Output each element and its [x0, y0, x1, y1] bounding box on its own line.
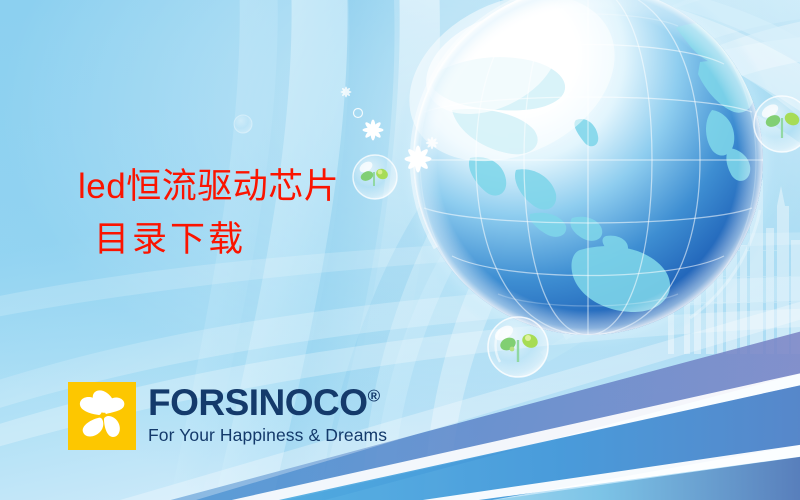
- logo-wordmark: FORSINOCO®: [148, 384, 387, 421]
- bubble-with-sprout: [488, 317, 548, 377]
- banner-canvas: led恒流驱动芯片 目录下载 FORSINOCO® For Your Happi…: [0, 0, 800, 500]
- logo-text-block: FORSINOCO® For Your Happiness & Dreams: [148, 384, 387, 445]
- bubble-small: [234, 115, 252, 133]
- bubble-with-sprout: [754, 96, 800, 152]
- bubble-with-sprout: [353, 155, 397, 199]
- company-logo: FORSINOCO® For Your Happiness & Dreams: [68, 382, 387, 450]
- logo-tagline: For Your Happiness & Dreams: [148, 427, 387, 445]
- sparkle-icon: [341, 87, 352, 98]
- four-petal-pinwheel-icon: [68, 382, 136, 450]
- sparkle-icon: [363, 120, 384, 141]
- registered-trademark-icon: ®: [368, 387, 381, 406]
- sparkle-icon: [426, 137, 438, 149]
- logo-wordmark-text: FORSINOCO: [148, 382, 368, 423]
- sparkle-icon: [405, 146, 432, 173]
